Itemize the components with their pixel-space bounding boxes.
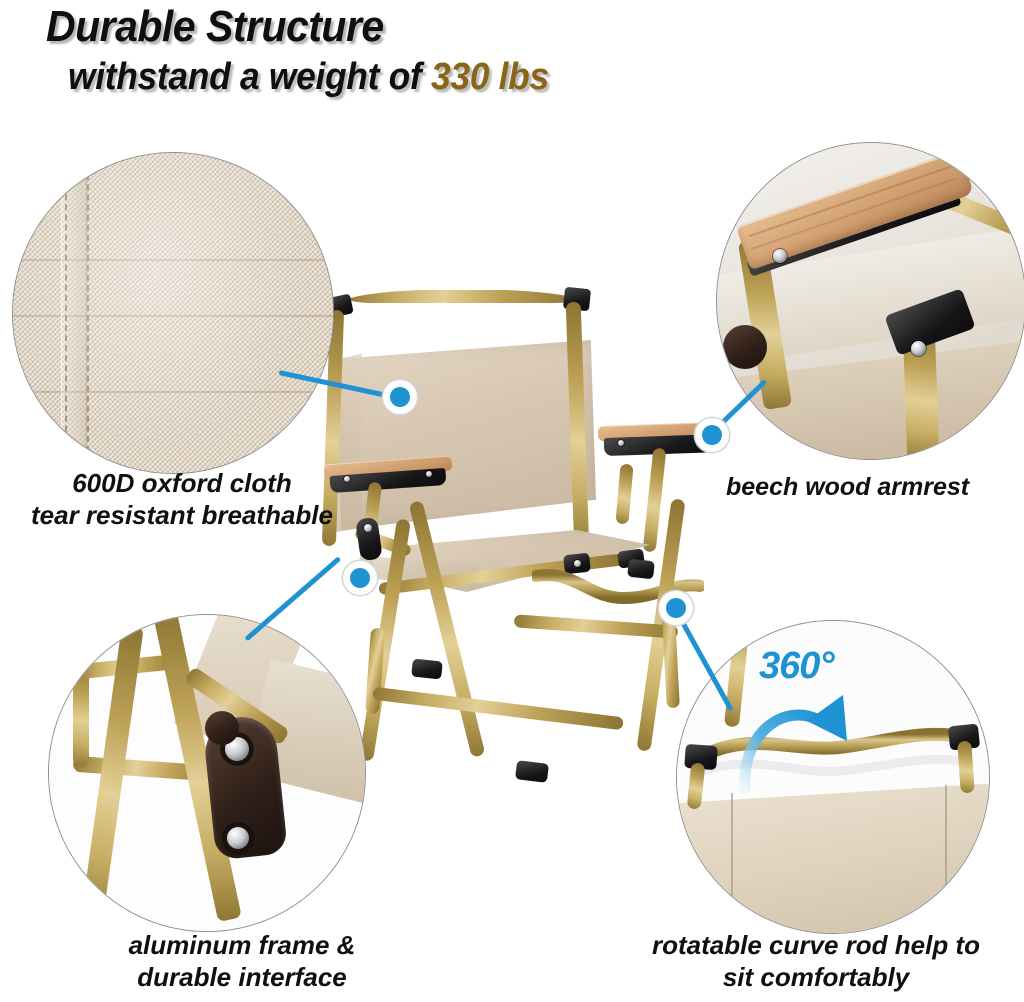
callout-dot-beech-armrest[interactable]: [695, 418, 729, 452]
armrest-screw-right: [618, 440, 624, 446]
rotation-arrow: [735, 677, 875, 803]
page-title: Durable Structure: [46, 2, 384, 52]
foot-rail-rear: [514, 614, 679, 638]
chair-top-rail: [344, 290, 582, 303]
foot-cap-3: [627, 559, 655, 580]
detail-circle-oxford-cloth: [12, 152, 334, 474]
rotation-badge-360: 360°: [759, 645, 834, 688]
armrest-detail-screw-bottom: [911, 341, 926, 356]
weight-capacity-highlight: 330 lbs: [431, 56, 549, 98]
frame-hinge-screw: [364, 524, 372, 532]
oxford-cloth-photo: [13, 153, 333, 473]
fabric-highlight: [13, 153, 333, 473]
title-subline-text: withstand a weight of: [68, 56, 431, 98]
caption-aluminum-frame: aluminum frame & durable interface: [66, 930, 418, 993]
caption-oxford-cloth: 600D oxford cloth tear resistant breatha…: [4, 468, 360, 531]
detail-circle-beech-armrest: [716, 142, 1024, 460]
chair-leg-front-right: [615, 464, 633, 525]
foot-cap-1: [411, 658, 443, 679]
foot-rail-front: [372, 687, 624, 731]
caption-curve-rod: rotatable curve rod help to sit comforta…: [606, 930, 1024, 993]
title-block: Durable Structure withstand a weight of …: [0, 0, 1024, 118]
hinge-pivot-collar: [205, 711, 239, 745]
chair-leg-rear-left: [409, 500, 486, 758]
seat-rail-joint-screw: [574, 560, 581, 567]
curve-rod-seat-fabric: [676, 783, 990, 934]
hinge-screw-lower: [227, 827, 249, 849]
beech-armrest-photo: [717, 143, 1024, 459]
curve-rod-photo: 360°: [677, 621, 989, 933]
detail-circle-curve-rod: 360°: [676, 620, 990, 934]
callout-dot-aluminum-frame[interactable]: [343, 561, 377, 595]
armrest-hinge-knuckle: [723, 325, 767, 369]
aluminum-frame-photo: [49, 615, 365, 931]
infographic-canvas: Durable Structure withstand a weight of …: [0, 0, 1024, 1002]
armrest-screw-left-2: [426, 471, 432, 477]
callout-dot-oxford-cloth[interactable]: [383, 380, 417, 414]
foot-cap-4: [515, 760, 549, 783]
detail-circle-aluminum-frame: [48, 614, 366, 932]
seat-fabric-seam-right: [945, 785, 947, 934]
rotation-arrow-svg: [735, 677, 875, 803]
caption-beech-armrest: beech wood armrest: [726, 472, 1024, 503]
title-subline: withstand a weight of 330 lbs: [68, 56, 549, 99]
armrest-support-right: [643, 448, 667, 553]
armrest-detail-screw-top: [773, 249, 787, 263]
seat-fabric-seam-left: [731, 793, 733, 934]
callout-dot-curve-rod[interactable]: [659, 591, 693, 625]
